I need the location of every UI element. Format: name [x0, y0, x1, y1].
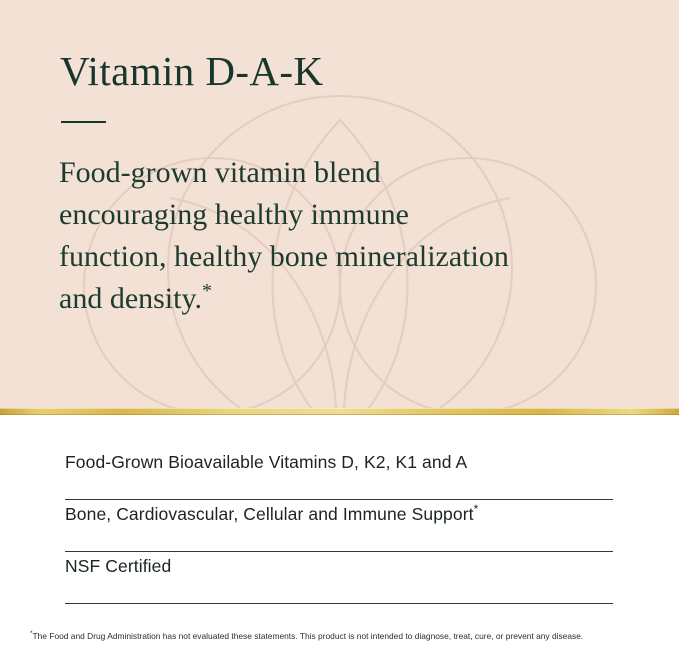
list-item: Food-Grown Bioavailable Vitamins D, K2, … [65, 448, 613, 500]
gold-divider-band [0, 408, 679, 415]
feature-label-text: NSF Certified [65, 556, 171, 576]
feature-label: NSF Certified [65, 556, 171, 577]
feature-list: Food-Grown Bioavailable Vitamins D, K2, … [65, 448, 613, 604]
hero-content: Vitamin D-A-K Food-grown vitamin blend e… [0, 0, 679, 408]
features-section: Food-Grown Bioavailable Vitamins D, K2, … [0, 415, 679, 650]
hero-subtitle: Food-grown vitamin blend encouraging hea… [59, 152, 519, 320]
feature-label: Bone, Cardiovascular, Cellular and Immun… [65, 504, 478, 525]
list-item: Bone, Cardiovascular, Cellular and Immun… [65, 500, 613, 552]
title-underline-rule [61, 121, 106, 123]
hero-subtitle-text: Food-grown vitamin blend encouraging hea… [59, 156, 509, 315]
feature-label: Food-Grown Bioavailable Vitamins D, K2, … [65, 452, 467, 473]
list-item: NSF Certified [65, 552, 613, 604]
feature-label-asterisk: * [474, 502, 479, 516]
product-info-card: Vitamin D-A-K Food-grown vitamin blend e… [0, 0, 679, 650]
footnote-text: The Food and Drug Administration has not… [33, 631, 584, 641]
fda-disclaimer: *The Food and Drug Administration has no… [30, 631, 655, 641]
feature-label-text: Bone, Cardiovascular, Cellular and Immun… [65, 504, 474, 524]
hero-section: Vitamin D-A-K Food-grown vitamin blend e… [0, 0, 679, 408]
page-title: Vitamin D-A-K [60, 48, 324, 95]
hero-subtitle-asterisk: * [202, 280, 212, 302]
feature-label-text: Food-Grown Bioavailable Vitamins D, K2, … [65, 452, 467, 472]
